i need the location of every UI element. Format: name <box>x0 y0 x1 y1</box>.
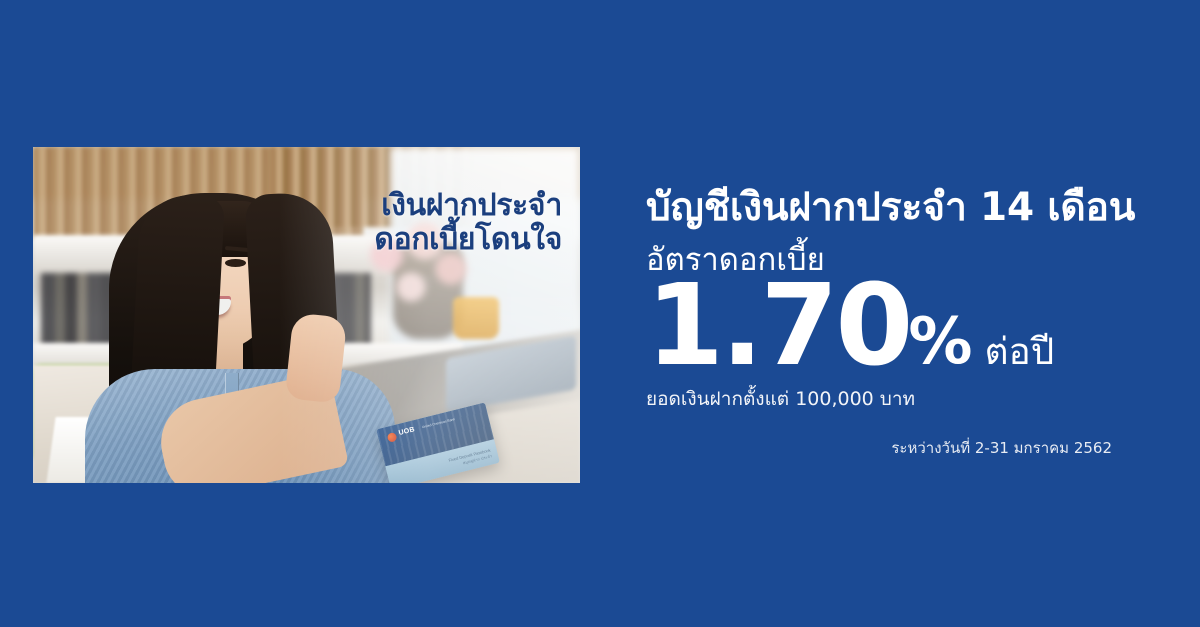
photo-headline-line-1: เงินฝากประจำ <box>381 188 562 223</box>
uob-logo-subtext: United Overseas Bank <box>422 417 456 429</box>
percent-symbol: % <box>908 310 970 374</box>
promo-copy-block: บัญชีเงินฝากประจำ 14 เดือน อัตราดอกเบี้ย… <box>646 185 1116 460</box>
hand <box>285 312 348 403</box>
woman-figure <box>75 183 405 483</box>
uob-logo-icon <box>387 432 398 443</box>
promo-title: บัญชีเงินฝากประจำ 14 เดือน <box>646 185 1116 231</box>
coffee-mug <box>453 297 499 339</box>
promotional-banner: UOB United Overseas Bank Fixed Deposit P… <box>0 0 1200 627</box>
photo-overlay-headline: เงินฝากประจำ ดอกเบี้ยโดนใจ <box>374 189 562 256</box>
uob-logo-text: UOB <box>398 426 416 437</box>
minimum-deposit-text: ยอดเงินฝากตั้งแต่ 100,000 บาท <box>646 384 1116 414</box>
interest-rate-value: 1.70 <box>646 275 910 378</box>
interest-rate-row: 1.70 % ต่อปี <box>646 275 1116 378</box>
hero-photo: UOB United Overseas Bank Fixed Deposit P… <box>33 147 580 483</box>
eye-right <box>225 259 246 267</box>
photo-headline-line-2: ดอกเบี้ยโดนใจ <box>374 223 562 257</box>
per-year-label: ต่อปี <box>984 333 1054 370</box>
promotion-period-text: ระหว่างวันที่ 2-31 มกราคม 2562 <box>646 436 1112 460</box>
